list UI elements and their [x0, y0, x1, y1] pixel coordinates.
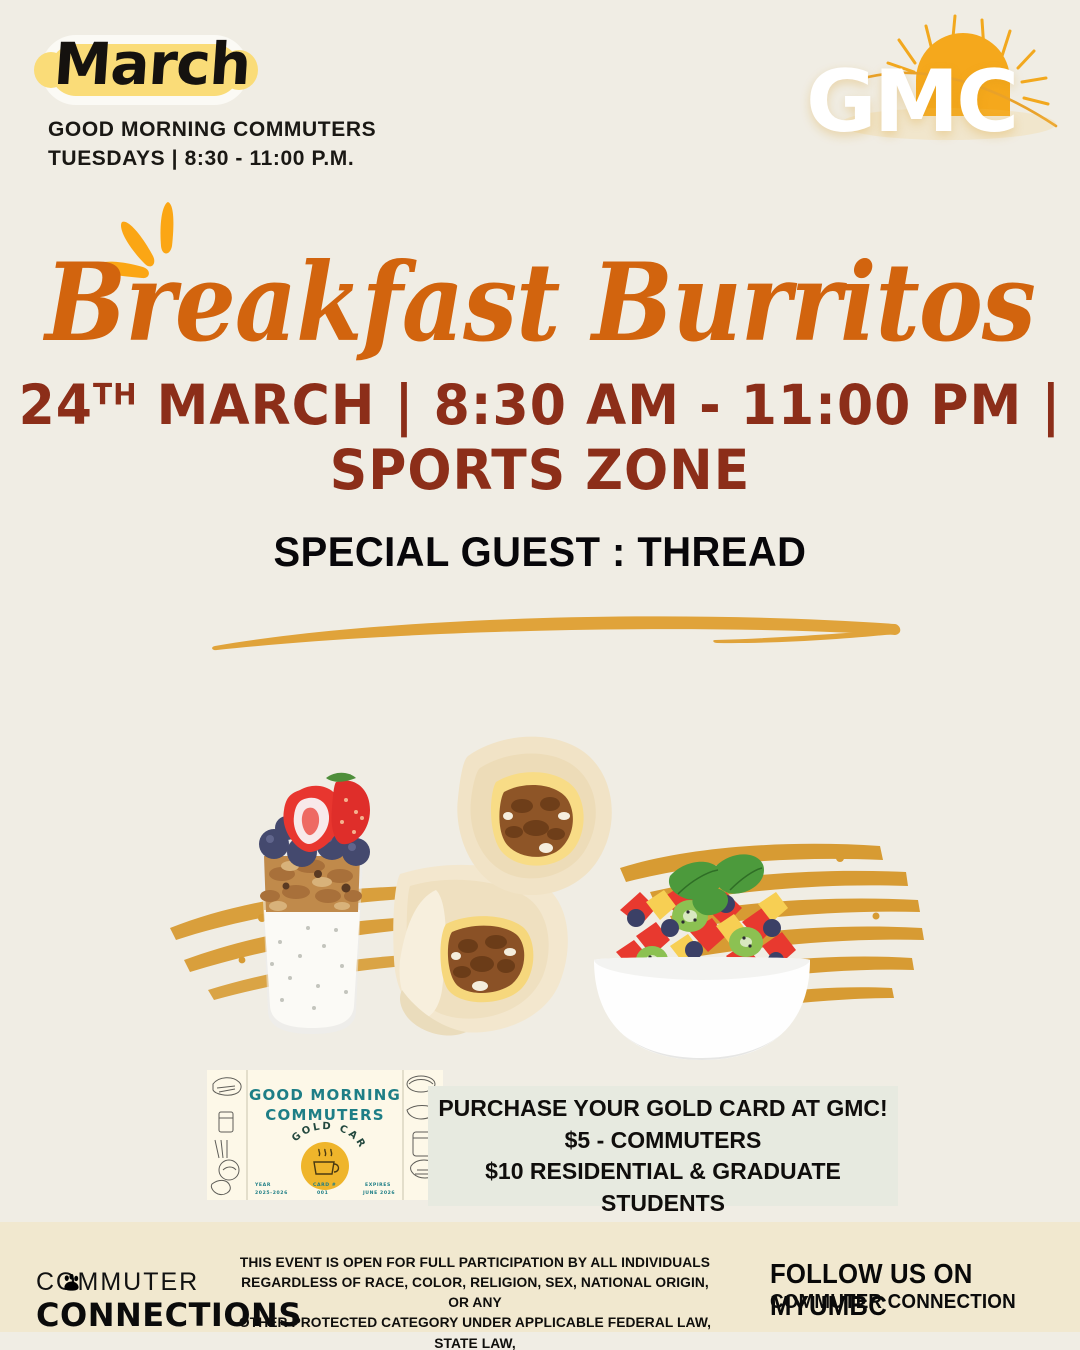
gold-card-year-value: 2025-2026: [255, 1190, 288, 1196]
org-name: GOOD MORNING COMMUTERS: [48, 118, 376, 142]
swoosh-decoration: [195, 600, 915, 660]
event-day-number: 24: [19, 374, 93, 438]
gold-card-year-label: YEAR: [254, 1182, 271, 1188]
schedule-line: TUESDAYS | 8:30 - 11:00 P.M.: [48, 147, 354, 171]
purchase-line-3: $10 RESIDENTIAL & GRADUATE STUDENTS: [428, 1156, 898, 1219]
breakfast-burrito-back: [457, 737, 611, 895]
gold-card-image: GOOD MORNING COMMUTERS GOLD CARD YEAR 20…: [207, 1070, 443, 1210]
gold-card-expires-label: EXPIRES: [365, 1182, 391, 1188]
purchase-line-1: PURCHASE YOUR GOLD CARD AT GMC!: [428, 1093, 898, 1125]
special-guest: SPECIAL GUEST : THREAD: [27, 528, 1053, 576]
disclaimer-line-1: THIS EVENT IS OPEN FOR FULL PARTICIPATIO…: [233, 1253, 718, 1273]
gold-card-number-label: CARD #: [313, 1182, 336, 1188]
event-day-ordinal: TH: [93, 377, 138, 412]
gold-card-number-value: 001: [317, 1190, 328, 1196]
disclaimer-line-3: OTHER PROTECTED CATEGORY UNDER APPLICABL…: [233, 1313, 718, 1350]
month-badge-label: March: [52, 30, 253, 98]
gmc-logo: GMC: [768, 6, 1058, 176]
disclaimer-line-2: REGARDLESS OF RACE, COLOR, RELIGION, SEX…: [233, 1273, 718, 1313]
commuter-connections-logo: COMMUTER CONNECTIONS: [18, 1268, 238, 1334]
yogurt-parfait: [259, 773, 370, 1034]
month-badge: March: [40, 28, 320, 108]
follow-us-account: COMMUTER CONNECTION: [770, 1291, 1016, 1314]
gmc-logo-letters: GMC: [806, 52, 1016, 152]
gold-card-expires-value: JUNE 2026: [362, 1190, 395, 1196]
event-location: SPORTS ZONE: [0, 439, 1080, 504]
commuter-connections-top: COMMUTER: [36, 1268, 199, 1297]
page-title: Breakfast Burritos: [0, 239, 1080, 366]
event-datetime: 24TH MARCH | 8:30 AM - 11:00 PM | SPORTS…: [0, 374, 1080, 504]
food-photo-group: [150, 660, 950, 1060]
flyer-canvas: March GOOD MORNING COMMUTERS TUESDAYS | …: [0, 0, 1080, 1350]
paw-print-icon: [62, 1274, 81, 1291]
nondiscrimination-disclaimer: THIS EVENT IS OPEN FOR FULL PARTICIPATIO…: [233, 1253, 718, 1350]
event-date-rest: MARCH | 8:30 AM - 11:00 PM |: [138, 374, 1062, 438]
purchase-line-2: $5 - COMMUTERS: [428, 1125, 898, 1157]
gold-card-title-1: GOOD MORNING: [249, 1086, 401, 1104]
